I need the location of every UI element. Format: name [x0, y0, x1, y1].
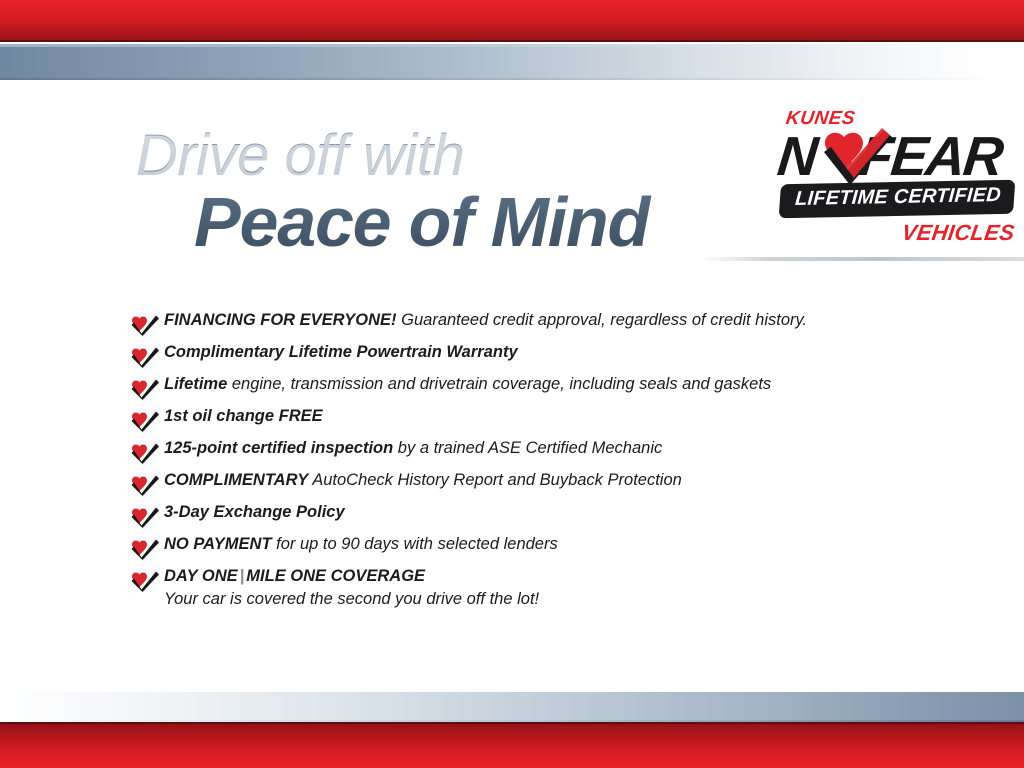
- list-item-bold-b: MILE ONE COVERAGE: [246, 567, 425, 585]
- list-item-subtext: Your car is covered the second you drive…: [164, 590, 539, 609]
- list-item-separator: |: [238, 567, 247, 585]
- list-item: FINANCING FOR EVERYONE! Guaranteed credi…: [130, 311, 990, 343]
- list-item-bold-a: DAY ONE: [164, 567, 238, 585]
- list-item-rest: by a trained ASE Certified Mechanic: [393, 439, 662, 457]
- list-item: COMPLIMENTARY AutoCheck History Report a…: [130, 471, 990, 503]
- list-item: DAY ONE|MILE ONE COVERAGE Your car is co…: [130, 567, 990, 610]
- header-divider: [700, 257, 1024, 261]
- headline-line-1: Drive off with: [136, 128, 756, 185]
- list-item-text: NO PAYMENT for up to 90 days with select…: [164, 535, 558, 554]
- list-item-block: DAY ONE|MILE ONE COVERAGE Your car is co…: [164, 567, 539, 610]
- heart-check-icon: [130, 538, 160, 560]
- heart-check-icon: [130, 410, 160, 432]
- top-silver-band: [0, 44, 1024, 80]
- kunes-no-fear-logo: KUNES NFEAR LIFETIME CERTIFIED VEHICLES: [778, 108, 1016, 248]
- list-item: 125-point certified inspection by a trai…: [130, 439, 990, 471]
- list-item-rest: for up to 90 days with selected lenders: [272, 535, 558, 553]
- bottom-silver-band: [0, 692, 1024, 722]
- list-item: Lifetime engine, transmission and drivet…: [130, 375, 990, 407]
- list-item-text: Complimentary Lifetime Powertrain Warran…: [164, 343, 518, 362]
- list-item: NO PAYMENT for up to 90 days with select…: [130, 535, 990, 567]
- headline-line-2: Peace of Mind: [194, 187, 756, 258]
- list-item-bold: FINANCING FOR EVERYONE!: [164, 311, 397, 329]
- list-item: 3-Day Exchange Policy: [130, 503, 990, 535]
- list-item-text: FINANCING FOR EVERYONE! Guaranteed credi…: [164, 311, 807, 330]
- list-item-rest: Guaranteed credit approval, regardless o…: [397, 311, 808, 329]
- top-red-band: [0, 0, 1024, 42]
- logo-vehicles-text: VEHICLES: [900, 220, 1016, 246]
- list-item-text: DAY ONE|MILE ONE COVERAGE: [164, 567, 539, 586]
- bottom-red-band: [0, 722, 1024, 768]
- list-item: 1st oil change FREE: [130, 407, 990, 439]
- list-item-text: 3-Day Exchange Policy: [164, 503, 345, 522]
- logo-lifetime-certified-text: LIFETIME CERTIFIED: [787, 184, 1009, 211]
- headline-block: Drive off with Peace of Mind: [136, 128, 756, 258]
- list-item-text: COMPLIMENTARY AutoCheck History Report a…: [164, 471, 682, 490]
- promo-page: Drive off with Peace of Mind KUNES NFEAR…: [0, 0, 1024, 768]
- list-item-bold: 1st oil change FREE: [164, 407, 323, 425]
- heart-check-icon: [130, 314, 160, 336]
- list-item: Complimentary Lifetime Powertrain Warran…: [130, 343, 990, 375]
- list-item-rest: AutoCheck History Report and Buyback Pro…: [308, 471, 682, 489]
- heart-check-icon: [818, 126, 896, 188]
- list-item-bold: 3-Day Exchange Policy: [164, 503, 345, 521]
- heart-check-icon: [130, 506, 160, 528]
- benefits-list: FINANCING FOR EVERYONE! Guaranteed credi…: [130, 311, 990, 610]
- heart-check-icon: [130, 378, 160, 400]
- list-item-text: 125-point certified inspection by a trai…: [164, 439, 662, 458]
- list-item-bold: NO PAYMENT: [164, 535, 272, 553]
- list-item-text: Lifetime engine, transmission and drivet…: [164, 375, 771, 394]
- heart-check-icon: [130, 474, 160, 496]
- list-item-text: 1st oil change FREE: [164, 407, 323, 426]
- logo-letter-n: N: [775, 125, 819, 187]
- list-item-bold: Complimentary Lifetime Powertrain Warran…: [164, 343, 518, 361]
- list-item-bold: Lifetime: [164, 375, 227, 393]
- heart-check-icon: [130, 346, 160, 368]
- list-item-rest: engine, transmission and drivetrain cove…: [227, 375, 771, 393]
- heart-check-icon: [130, 442, 160, 464]
- heart-check-icon: [130, 570, 160, 592]
- list-item-bold: 125-point certified inspection: [164, 439, 393, 457]
- list-item-bold: COMPLIMENTARY: [164, 471, 308, 489]
